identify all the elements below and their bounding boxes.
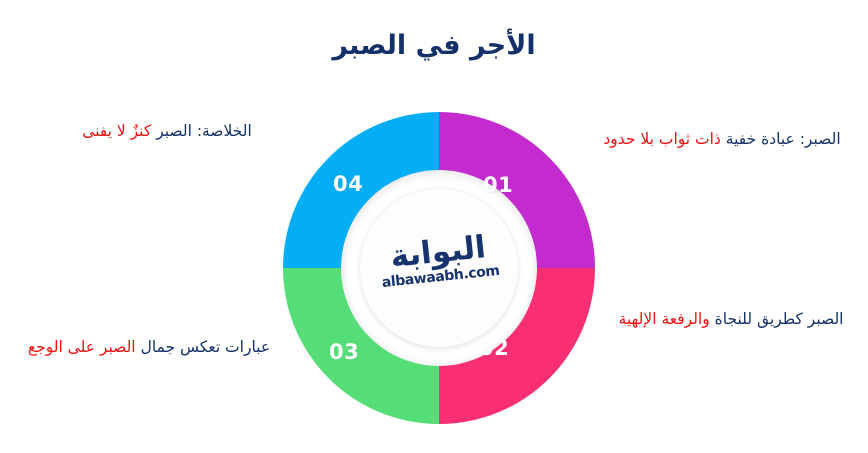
callout-label-03-trail: الصبر على الوجع [28, 338, 136, 356]
segment-number-02: 02 [479, 336, 509, 360]
callout-label-02-trail: والرفعة الإلهية [619, 310, 710, 328]
callout-label-02-lead: الصبر كطريق للنجاة [715, 310, 844, 328]
callout-label-03: عبارات تعكس جمال الصبر على الوجع [8, 336, 290, 358]
donut-chart: 01 02 03 04 البوابة albawaabh.com [283, 112, 595, 424]
segment-number-01: 01 [483, 173, 513, 197]
callout-label-01: الصبر: عبادة خفية ذات ثواب بلا حدود [588, 128, 856, 150]
segment-number-03: 03 [329, 340, 359, 364]
callout-label-02: الصبر كطريق للنجاة والرفعة الإلهية [606, 308, 856, 330]
callout-label-04: الخلاصة: الصبر كنزٌ لا يفنى [24, 120, 310, 142]
segment-number-04: 04 [333, 172, 363, 196]
callout-label-04-trail: كنزٌ لا يفنى [82, 122, 151, 140]
page-title: الأجر في الصبر [0, 30, 868, 62]
callout-label-03-lead: عبارات تعكس جمال [141, 338, 271, 356]
callout-label-04-lead: الخلاصة: الصبر [156, 122, 252, 140]
infographic-root: الأجر في الصبر 01 02 03 04 البوابة albaw… [0, 0, 868, 453]
callout-label-01-lead: الصبر: عبادة خفية [726, 130, 841, 148]
callout-label-01-trail: ذات ثواب بلا حدود [603, 130, 720, 148]
